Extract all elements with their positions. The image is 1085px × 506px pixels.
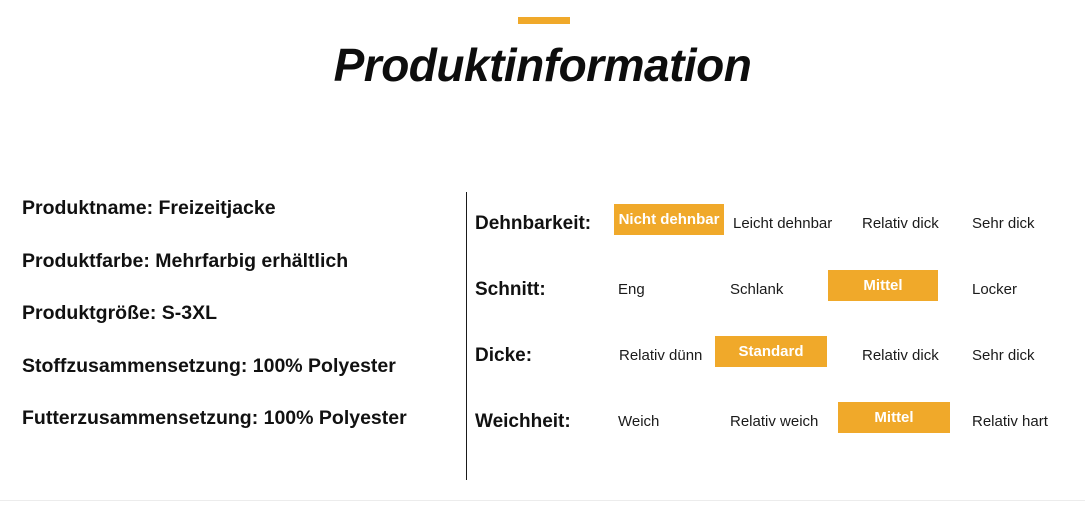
attribute-option-fit-2[interactable]: Mittel (828, 270, 938, 301)
attribute-label-fit: Schnitt: (475, 278, 546, 302)
attribute-label-softness: Weichheit: (475, 410, 571, 434)
attribute-option-thickness-2[interactable]: Relativ dick (862, 344, 939, 368)
column-divider (466, 192, 467, 480)
spec-item-product-name: Produktname: Freizeitjacke (22, 198, 452, 218)
attribute-row-thickness: Dicke: Relativ dünn Standard Relativ dic… (475, 336, 1075, 376)
attribute-option-softness-1[interactable]: Relativ weich (730, 410, 818, 434)
product-spec-list: Produktname: Freizeitjacke Produktfarbe:… (22, 198, 452, 428)
attribute-row-softness: Weichheit: Weich Relativ weich Mittel Re… (475, 402, 1075, 442)
spec-item-fabric-composition: Stoffzusammensetzung: 100% Polyester (22, 356, 452, 376)
attribute-label-stretch: Dehnbarkeit: (475, 212, 591, 236)
attribute-option-fit-0[interactable]: Eng (618, 278, 645, 302)
attribute-option-stretch-2[interactable]: Relativ dick (862, 212, 939, 236)
attribute-option-fit-3[interactable]: Locker (972, 278, 1017, 302)
spec-item-product-color: Produktfarbe: Mehrfarbig erhältlich (22, 251, 452, 271)
attribute-option-thickness-1[interactable]: Standard (715, 336, 827, 367)
attribute-option-softness-2[interactable]: Mittel (838, 402, 950, 433)
attribute-option-thickness-0[interactable]: Relativ dünn (619, 344, 702, 368)
bottom-rule (0, 500, 1085, 501)
attribute-label-thickness: Dicke: (475, 344, 532, 368)
attribute-option-softness-0[interactable]: Weich (618, 410, 659, 434)
attribute-option-stretch-1[interactable]: Leicht dehnbar (733, 212, 832, 236)
attribute-scale-table: Dehnbarkeit: Nicht dehnbar Leicht dehnba… (475, 204, 1075, 464)
attribute-option-stretch-3[interactable]: Sehr dick (972, 212, 1035, 236)
product-information-panel: Produktinformation Produktname: Freizeit… (0, 0, 1085, 506)
spec-item-lining-composition: Futterzusammensetzung: 100% Polyester (22, 408, 452, 428)
attribute-row-stretch: Dehnbarkeit: Nicht dehnbar Leicht dehnba… (475, 204, 1075, 244)
attribute-row-fit: Schnitt: Eng Schlank Mittel Locker (475, 270, 1075, 310)
attribute-option-fit-1[interactable]: Schlank (730, 278, 783, 302)
title-accent-bar (518, 17, 570, 24)
attribute-option-softness-3[interactable]: Relativ hart (972, 410, 1048, 434)
spec-item-product-size: Produktgröße: S-3XL (22, 303, 452, 323)
attribute-option-stretch-0[interactable]: Nicht dehnbar (614, 204, 724, 235)
page-title: Produktinformation (0, 38, 1085, 92)
attribute-option-thickness-3[interactable]: Sehr dick (972, 344, 1035, 368)
